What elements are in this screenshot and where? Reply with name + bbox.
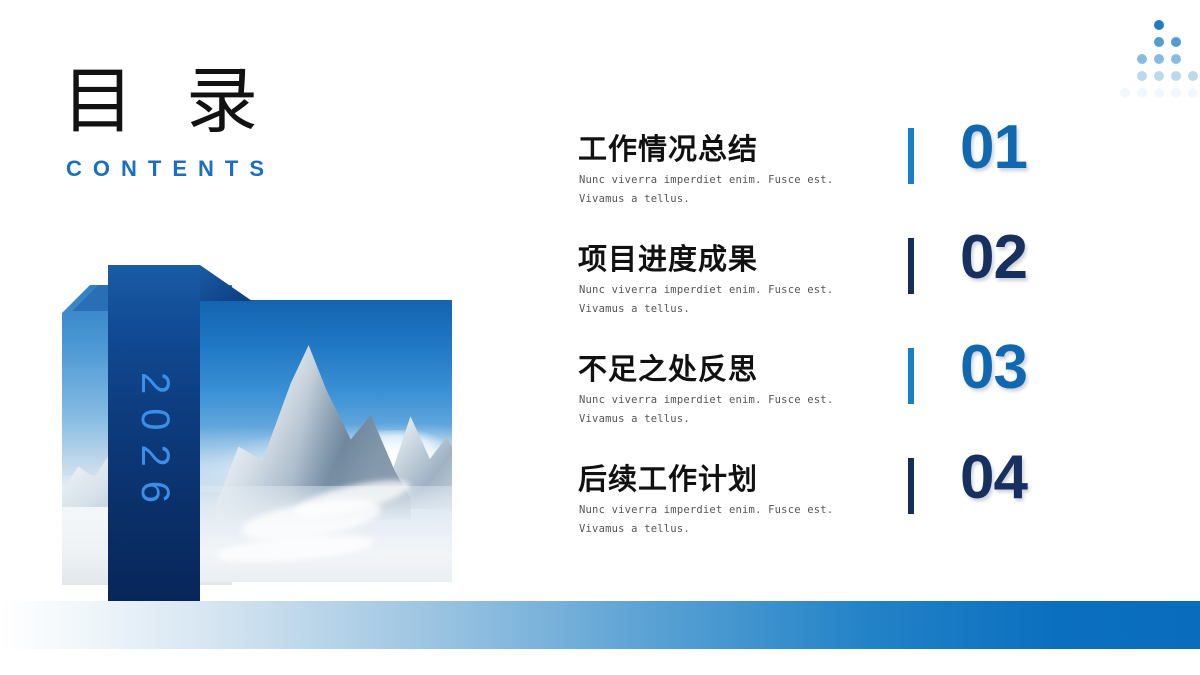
list-item-description: Nunc viverra imperdiet enim. Fusce est. … [579, 171, 871, 209]
dot [1171, 88, 1181, 98]
list-item[interactable]: 不足之处反思 Nunc viverra imperdiet enim. Fusc… [578, 346, 1078, 456]
dot [1137, 54, 1147, 64]
list-item-heading: 工作情况总结 [578, 126, 758, 168]
dot [1137, 88, 1147, 98]
dot [1188, 71, 1198, 81]
dot [1154, 54, 1164, 64]
list-item-description: Nunc viverra imperdiet enim. Fusce est. … [579, 501, 871, 539]
list-item-description: Nunc viverra imperdiet enim. Fusce est. … [579, 391, 871, 429]
bottom-gradient-bar [0, 601, 1200, 649]
list-item[interactable]: 工作情况总结 Nunc viverra imperdiet enim. Fusc… [578, 126, 1078, 236]
list-item-number: 03 [960, 332, 1027, 403]
dot [1171, 54, 1181, 64]
page-subtitle: CONTENTS [66, 156, 482, 182]
ribbon-fold-right [200, 265, 252, 301]
snow-mountain-photo [195, 300, 452, 582]
list-item-accent-bar [908, 128, 914, 184]
list-item-number: 04 [960, 442, 1027, 513]
list-item-accent-bar [908, 458, 914, 514]
dot [1188, 88, 1198, 98]
contents-slide: 目 录 CONTENTS 2026 工作情况总结 [0, 0, 1200, 675]
dot [1171, 71, 1181, 81]
list-item-accent-bar [908, 348, 914, 404]
list-item-number: 01 [960, 112, 1027, 183]
dot [1154, 20, 1164, 30]
dot [1154, 37, 1164, 47]
ribbon-fold-left [62, 285, 108, 311]
page-title: 目 录 [62, 66, 482, 138]
dot [1171, 37, 1181, 47]
dot-grid-decoration-icon [1120, 20, 1200, 110]
list-item-number: 02 [960, 222, 1027, 293]
list-item-heading: 后续工作计划 [578, 456, 758, 498]
list-item[interactable]: 项目进度成果 Nunc viverra imperdiet enim. Fusc… [578, 236, 1078, 346]
year-badge-label: 2026 [132, 372, 177, 517]
list-item-description: Nunc viverra imperdiet enim. Fusce est. … [579, 281, 871, 319]
list-item-accent-bar [908, 238, 914, 294]
contents-list: 工作情况总结 Nunc viverra imperdiet enim. Fusc… [578, 126, 1078, 566]
dot [1154, 88, 1164, 98]
dot [1120, 88, 1130, 98]
list-item-heading: 不足之处反思 [578, 346, 758, 388]
list-item-heading: 项目进度成果 [578, 236, 758, 278]
dot [1154, 71, 1164, 81]
artwork-composition: 2026 [0, 265, 520, 635]
list-item[interactable]: 后续工作计划 Nunc viverra imperdiet enim. Fusc… [578, 456, 1078, 566]
title-block: 目 录 CONTENTS [62, 66, 482, 182]
year-badge: 2026 [108, 265, 200, 623]
dot [1137, 71, 1147, 81]
